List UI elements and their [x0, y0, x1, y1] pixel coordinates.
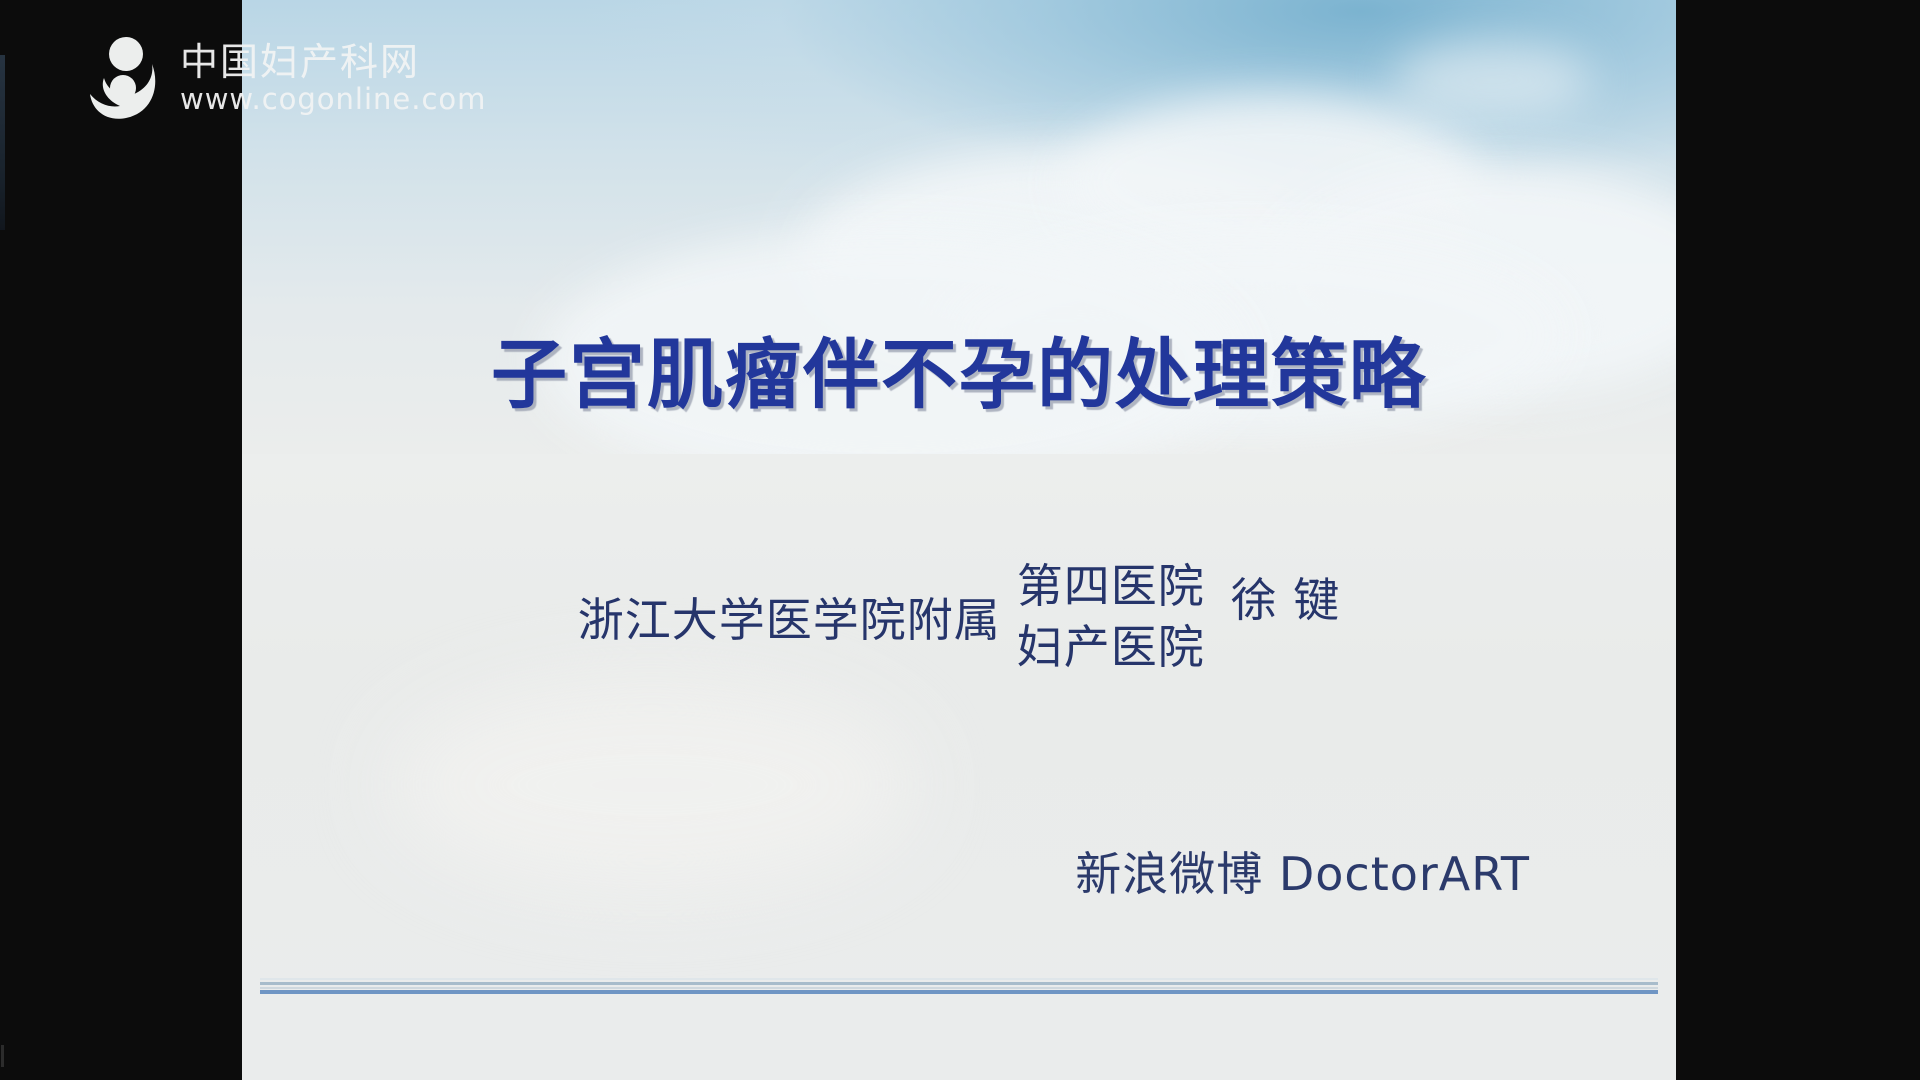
presenter-name: 徐 键: [1231, 564, 1341, 630]
affiliation-hospital-line-1: 第四医院: [1017, 556, 1205, 617]
affiliation-hospital: 第四医院 妇产医院: [1017, 556, 1205, 677]
footer-rule-3: [260, 987, 1658, 989]
video-player-stage: 子宫肌瘤伴不孕的处理策略 浙江大学医学院附属 第四医院 妇产医院 徐 键 新浪微…: [0, 0, 1920, 1080]
footer-rule-2: [260, 982, 1658, 985]
social-handle: 新浪微博 DoctorART: [242, 838, 1676, 904]
mother-and-child-logo-icon: [86, 36, 164, 122]
affiliation-hospital-line-2: 妇产医院: [1017, 617, 1205, 678]
player-edge-progress-indicator[interactable]: [0, 55, 5, 230]
footer-rule-1: [260, 978, 1658, 980]
slide-title: 子宫肌瘤伴不孕的处理策略: [242, 313, 1676, 423]
affiliation-university: 浙江大学医学院附属: [578, 584, 1001, 650]
presentation-slide: 子宫肌瘤伴不孕的处理策略 浙江大学医学院附属 第四医院 妇产医院 徐 键 新浪微…: [242, 0, 1676, 1080]
slide-content: 子宫肌瘤伴不孕的处理策略 浙江大学医学院附属 第四医院 妇产医院 徐 键 新浪微…: [242, 0, 1676, 1080]
footer-rule-accent: [260, 990, 1658, 994]
slide-affiliation-block: 浙江大学医学院附属 第四医院 妇产医院 徐 键: [242, 556, 1676, 677]
player-edge-tick: [1, 1045, 4, 1067]
slide-footer-rules: [260, 978, 1658, 1000]
